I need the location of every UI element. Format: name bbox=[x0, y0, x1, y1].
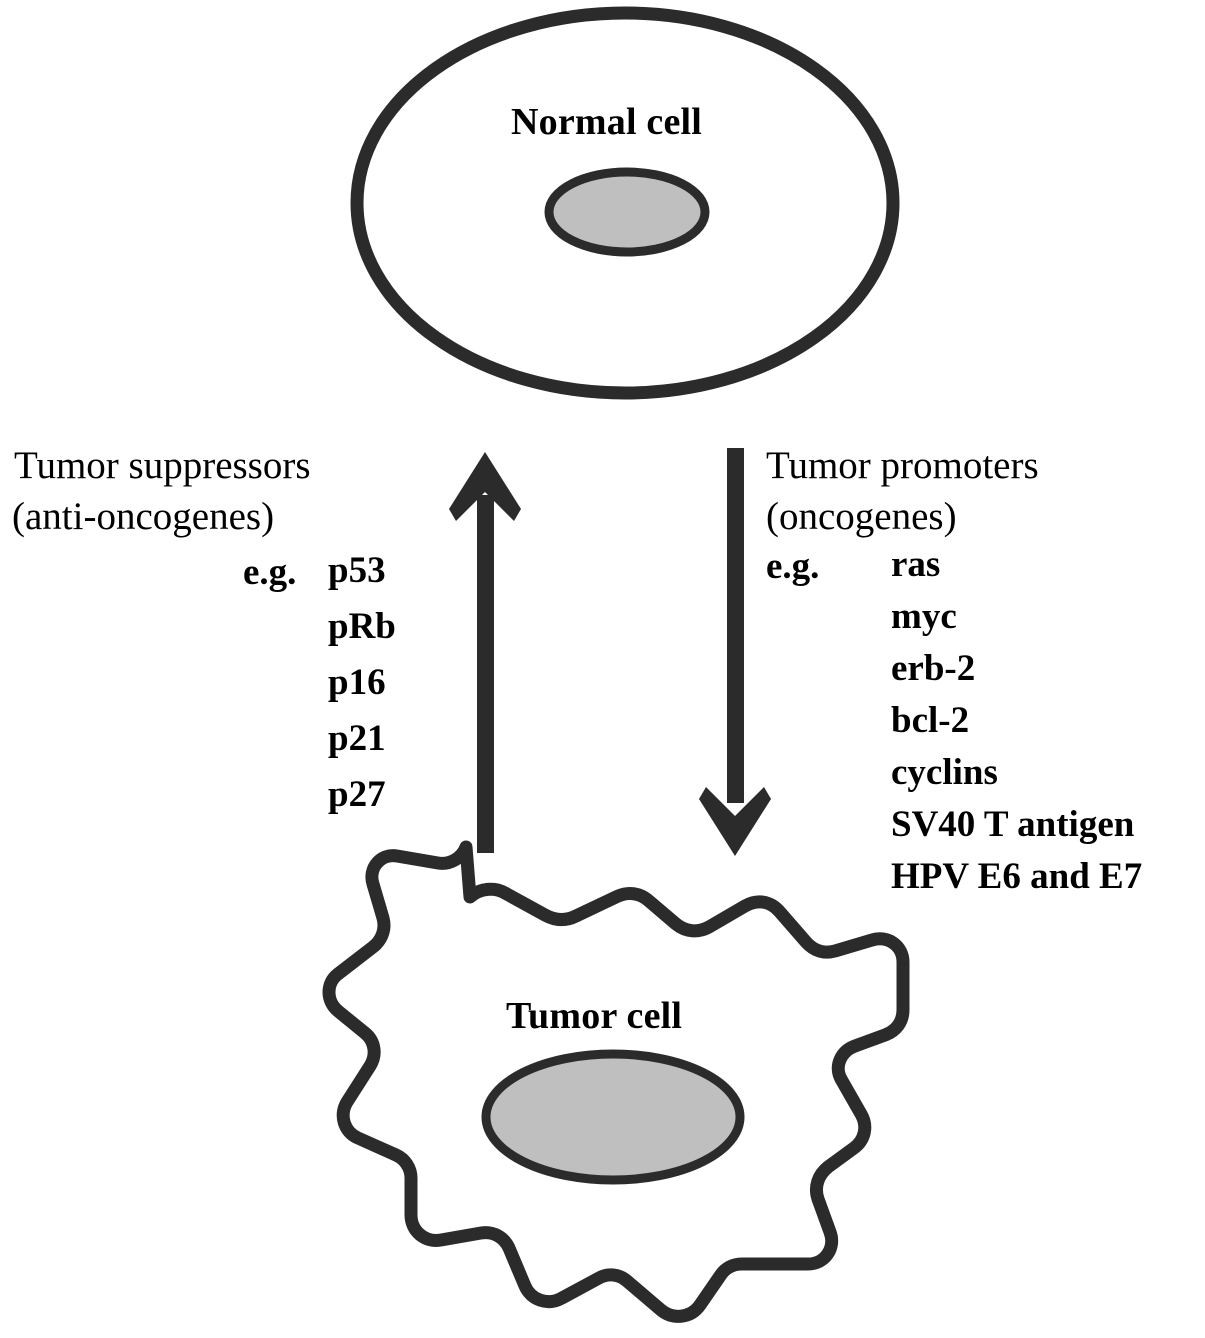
tumor-cell-nucleus bbox=[486, 1054, 740, 1180]
oncogene-item: HPV E6 and E7 bbox=[891, 858, 1142, 895]
tumor-suppressor-gene-item: p27 bbox=[328, 776, 396, 813]
tumor-suppressors-heading-line1: Tumor suppressors bbox=[14, 443, 311, 488]
tumor-promoters-eg-label: e.g. bbox=[766, 546, 819, 589]
tumor-promoters-heading-line2: (oncogenes) bbox=[766, 494, 957, 539]
up-arrow-icon bbox=[449, 452, 521, 853]
normal-cell-nucleus bbox=[549, 172, 705, 252]
oncogene-item: bcl-2 bbox=[891, 702, 1142, 739]
tumor-suppressor-gene-item: pRb bbox=[328, 608, 396, 645]
tumor-suppressor-gene-item: p53 bbox=[328, 552, 396, 589]
oncogene-item: erb-2 bbox=[891, 650, 1142, 687]
oncogene-item: SV40 T antigen bbox=[891, 806, 1142, 843]
tumor-suppressors-eg-label: e.g. bbox=[243, 552, 296, 595]
tumor-cell-label: Tumor cell bbox=[506, 994, 682, 1038]
oncogene-item: cyclins bbox=[891, 754, 1142, 791]
tumor-suppressor-gene-item: p21 bbox=[328, 720, 396, 757]
tumor-promoters-heading-line1: Tumor promoters bbox=[766, 443, 1039, 488]
down-arrow-icon bbox=[699, 448, 771, 856]
tumor-suppressor-gene-list: p53 pRb p16 p21 p27 bbox=[328, 552, 396, 832]
diagram-canvas: Normal cell Tumor cell Tumor suppressors… bbox=[0, 0, 1205, 1338]
tumor-suppressors-heading-line2: (anti-oncogenes) bbox=[12, 494, 274, 539]
oncogene-item: myc bbox=[891, 598, 1142, 635]
oncogene-list: ras myc erb-2 bcl-2 cyclins SV40 T antig… bbox=[891, 546, 1142, 910]
normal-cell-label: Normal cell bbox=[511, 100, 702, 144]
tumor-suppressor-gene-item: p16 bbox=[328, 664, 396, 701]
oncogene-item: ras bbox=[891, 546, 1142, 583]
